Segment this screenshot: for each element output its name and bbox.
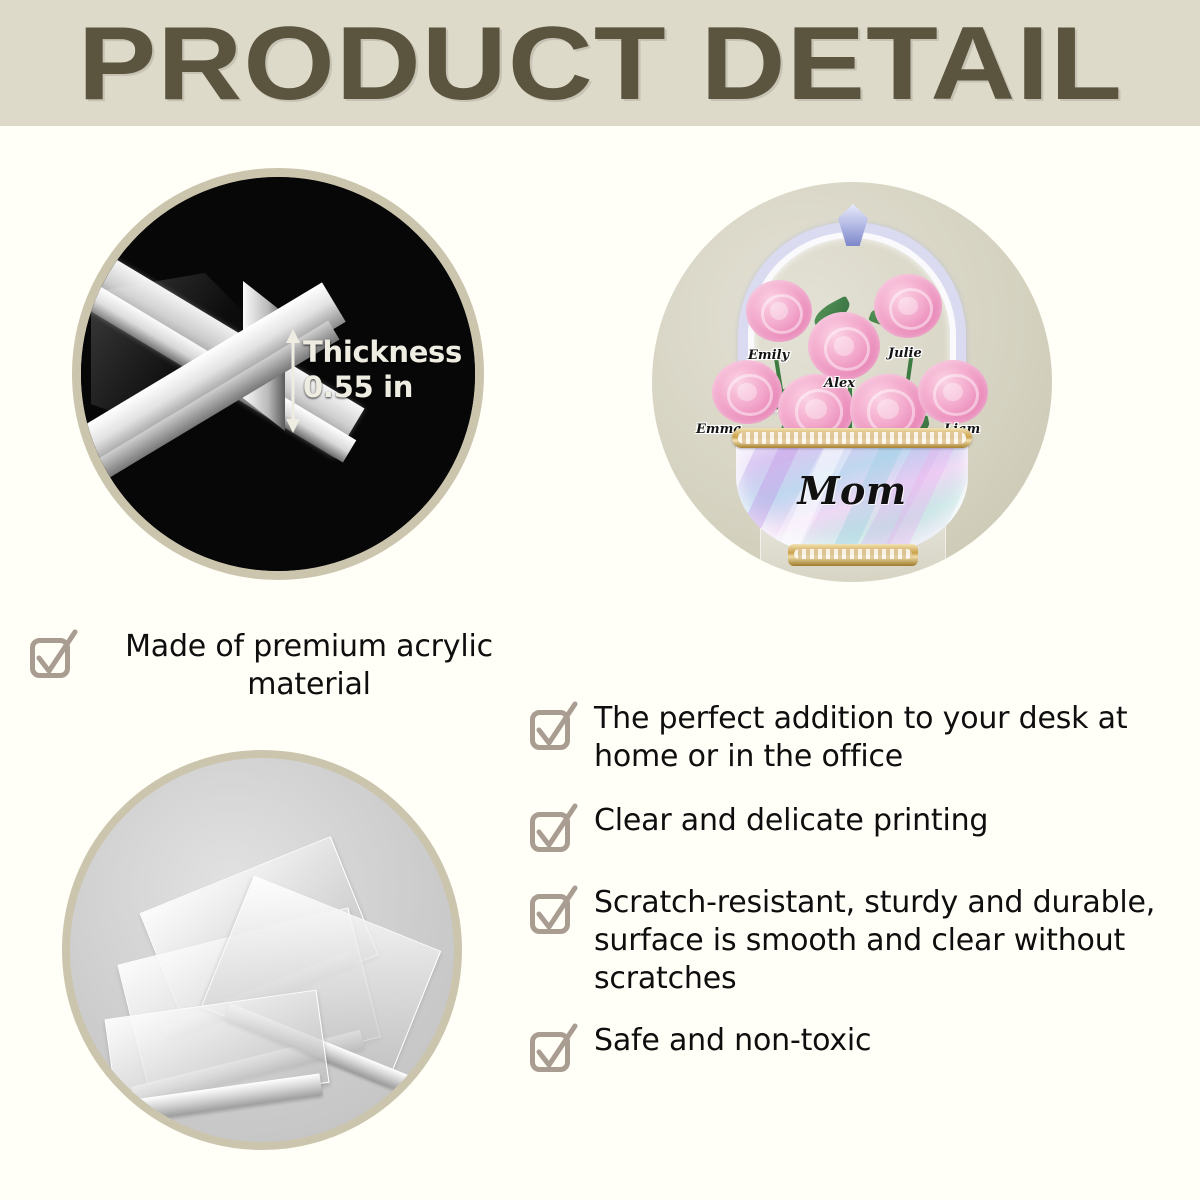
acrylic-edge-photo: Thickness 0.55 in [81, 177, 475, 571]
checkbox-checked-icon [530, 888, 576, 934]
header-banner: PRODUCT DETAIL [0, 0, 1200, 126]
acrylic-sheets-photo-circle [62, 750, 462, 1150]
bowl-rim-gems [738, 432, 966, 444]
feature-label: Safe and non-toxic [594, 1022, 871, 1060]
page-title: PRODUCT DETAIL [77, 12, 1122, 116]
rose-emily [746, 280, 812, 342]
thickness-double-arrow-icon [285, 329, 301, 433]
engraved-name-mom: Mom [652, 468, 1052, 513]
thickness-photo-circle: Thickness 0.55 in [72, 168, 484, 580]
rose-liam [918, 360, 988, 424]
name-tag-julie: Julie [888, 346, 922, 361]
checkbox-checked-icon [530, 704, 576, 750]
feature-item: The perfect addition to your desk at hom… [530, 700, 1190, 776]
feature-item: Clear and delicate printing [530, 802, 1190, 852]
bowl-base-gems [794, 549, 912, 559]
name-tag-alex: Alex [824, 376, 855, 391]
feature-label: Scratch-resistant, sturdy and durable, s… [594, 884, 1190, 997]
product-stage: Emily Alex Julie Emma Lucas John Liam Mo… [652, 182, 1052, 582]
checkbox-checked-icon [530, 1026, 576, 1072]
feature-label: The perfect addition to your desk at hom… [594, 700, 1190, 776]
feature-label: Made of premium acrylic material [94, 628, 524, 704]
feature-label: Clear and delicate printing [594, 802, 988, 840]
rose-alex [808, 312, 880, 380]
rose-emma [712, 360, 782, 424]
feature-item: Scratch-resistant, sturdy and durable, s… [530, 884, 1190, 997]
checkbox-checked-icon [530, 806, 576, 852]
name-tag-emily: Emily [748, 348, 789, 363]
feature-item: Made of premium acrylic material [30, 628, 550, 704]
feature-item: Safe and non-toxic [530, 1022, 1190, 1072]
rose-julie [874, 274, 942, 338]
checkbox-checked-icon [30, 632, 76, 678]
thickness-label: Thickness 0.55 in [303, 335, 462, 406]
product-photo-circle: Emily Alex Julie Emma Lucas John Liam Mo… [652, 182, 1052, 582]
